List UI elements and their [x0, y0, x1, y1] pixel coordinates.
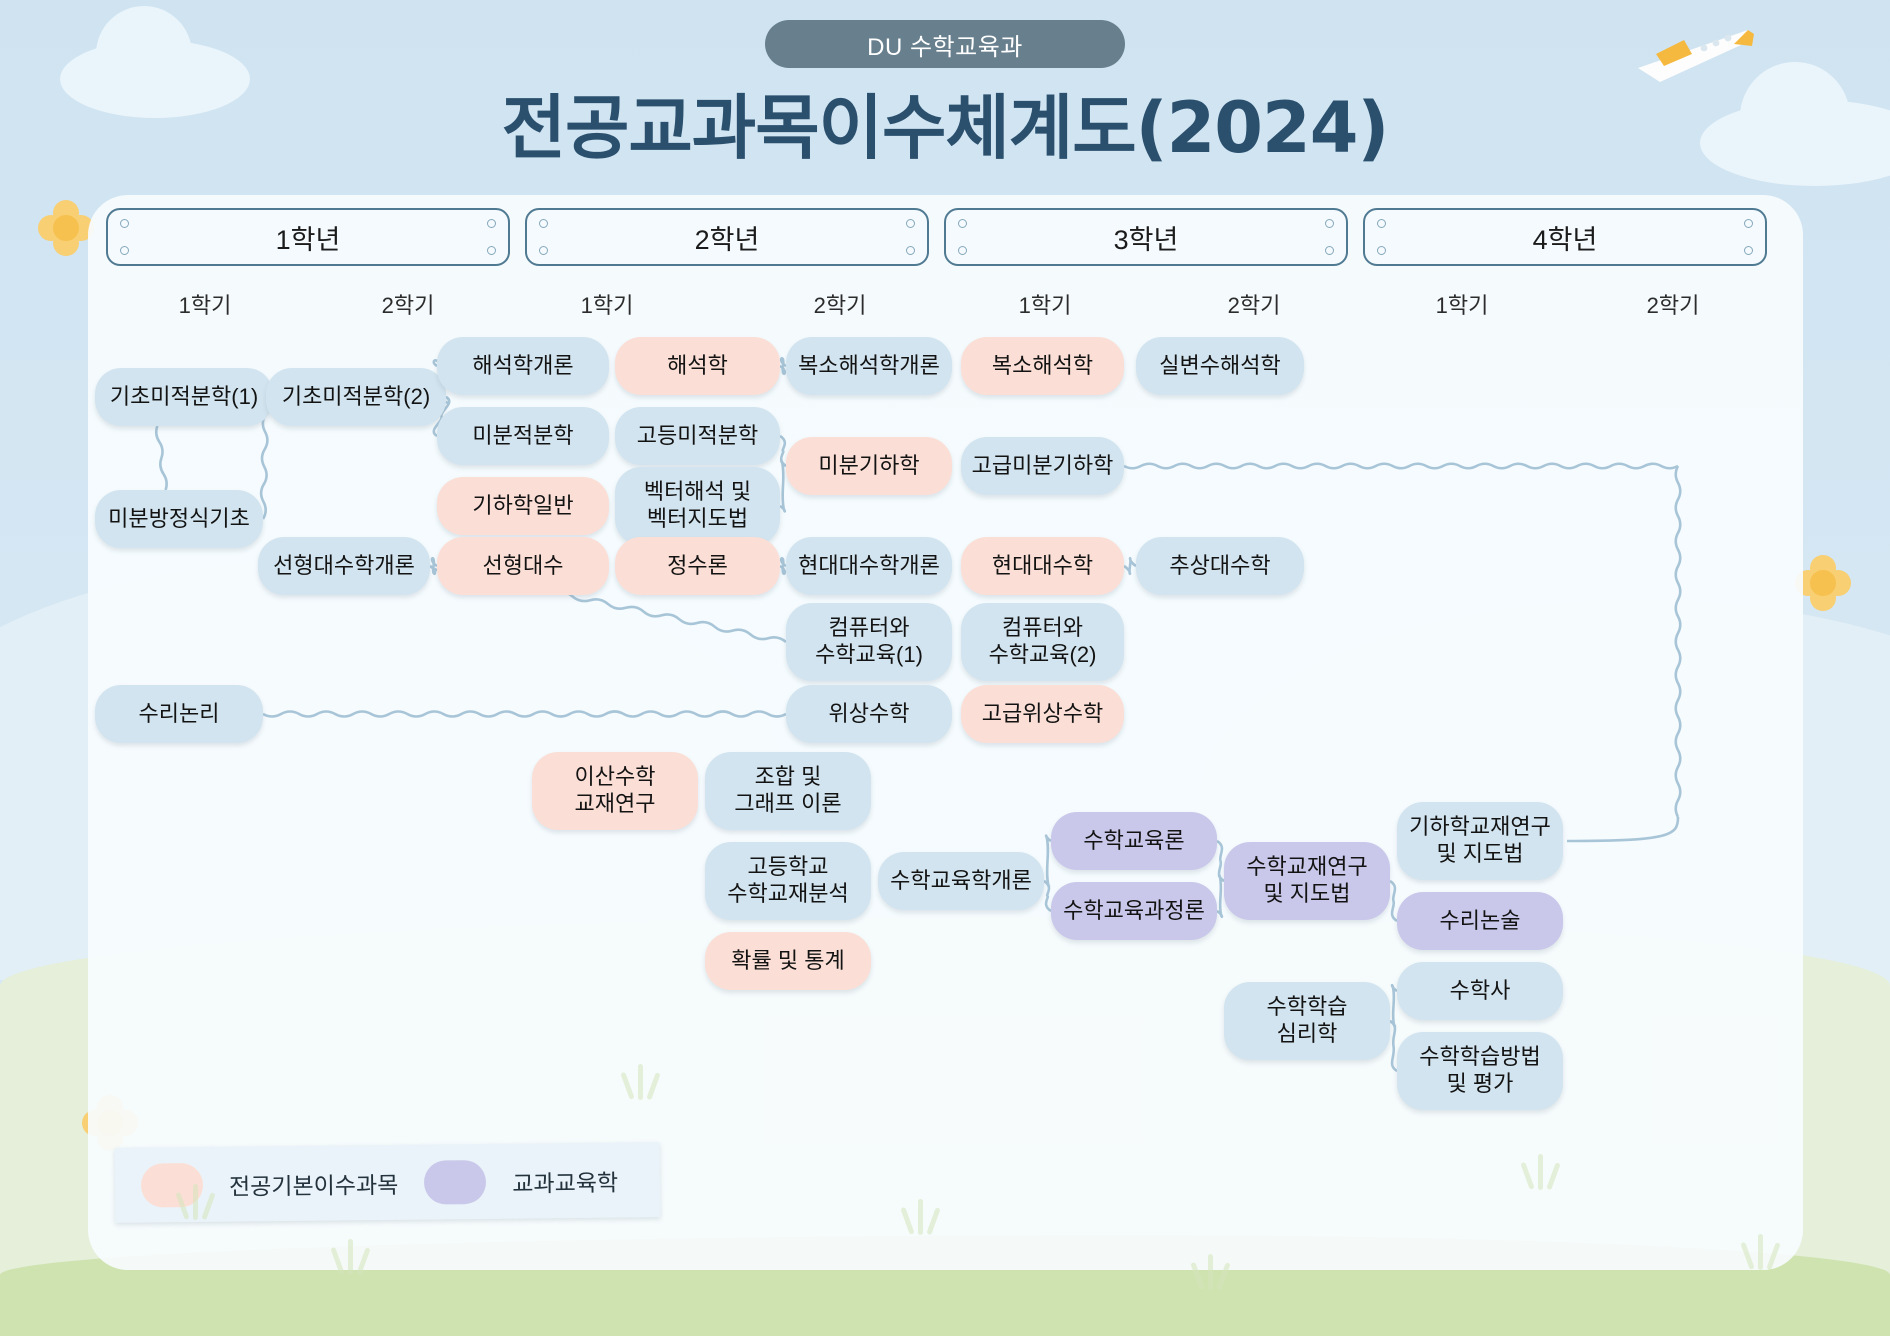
- course-node-label: 기하학교재연구 및 지도법: [1409, 814, 1551, 868]
- semester-label-3-2: 2학기: [1194, 288, 1314, 320]
- course-node[interactable]: 기하학교재연구 및 지도법: [1397, 802, 1563, 880]
- department-badge: DU 수학교육과: [765, 20, 1125, 68]
- semester-label-4-1: 1학기: [1402, 288, 1522, 320]
- course-node[interactable]: 추상대수학: [1136, 537, 1304, 595]
- semester-label-4-2: 2학기: [1613, 288, 1733, 320]
- course-node[interactable]: 고급위상수학: [961, 685, 1124, 743]
- course-node-label: 위상수학: [829, 701, 910, 728]
- course-node-label: 이산수학 교재연구: [575, 764, 656, 818]
- course-node-label: 고등학교 수학교재분석: [727, 854, 848, 908]
- course-node-label: 복소해석학개론: [798, 353, 940, 380]
- course-node-label: 미분적분학: [472, 423, 573, 450]
- course-node[interactable]: 해석학개론: [437, 337, 609, 395]
- course-node-label: 고급미분기하학: [972, 453, 1114, 480]
- course-node[interactable]: 컴퓨터와 수학교육(2): [961, 603, 1124, 681]
- grass-sprig-icon: [1520, 1150, 1560, 1194]
- course-node[interactable]: 선형대수: [437, 537, 609, 595]
- course-node-label: 고급위상수학: [982, 701, 1103, 728]
- course-node[interactable]: 위상수학: [786, 685, 952, 743]
- course-node-label: 고등미적분학: [637, 423, 758, 450]
- year-header-label: 2학년: [695, 218, 760, 257]
- legend-label-major-basic: 전공기본이수과목: [229, 1165, 399, 1201]
- grass-sprig-icon: [175, 1180, 215, 1224]
- course-node-label: 수리논리: [139, 701, 220, 728]
- semester-label-3-1: 1학기: [985, 288, 1105, 320]
- year-header-label: 1학년: [276, 218, 341, 257]
- course-node[interactable]: 미분기하학: [786, 437, 952, 495]
- legend-label-subject-education: 교과교육학: [512, 1163, 618, 1198]
- course-node[interactable]: 조합 및 그래프 이론: [705, 752, 871, 830]
- course-node[interactable]: 수리논리: [95, 685, 263, 743]
- course-node-label: 선형대수: [483, 553, 564, 580]
- semester-label-1-2: 2학기: [348, 288, 468, 320]
- course-node-label: 수리논술: [1440, 908, 1521, 935]
- year-header-2: 2학년: [525, 208, 929, 266]
- course-node[interactable]: 벡터해석 및 벡터지도법: [615, 467, 780, 545]
- course-node-label: 실변수해석학: [1159, 353, 1280, 380]
- semester-label-2-1: 1학기: [547, 288, 667, 320]
- course-node[interactable]: 수학사: [1397, 962, 1563, 1020]
- course-node[interactable]: 기하학일반: [437, 477, 609, 535]
- course-node[interactable]: 복소해석학개론: [786, 337, 952, 395]
- course-node-label: 해석학: [667, 353, 728, 380]
- course-node-label: 미분기하학: [818, 453, 919, 480]
- course-node[interactable]: 현대대수학개론: [786, 537, 952, 595]
- legend-swatch-subject-education: [424, 1159, 486, 1204]
- course-node[interactable]: 기초미적분학(2): [266, 368, 446, 426]
- course-node-label: 확률 및 통계: [731, 948, 844, 975]
- course-node-label: 해석학개론: [472, 353, 573, 380]
- course-node[interactable]: 확률 및 통계: [705, 932, 871, 990]
- grass-sprig-icon: [900, 1195, 940, 1239]
- course-node-label: 선형대수학개론: [273, 553, 415, 580]
- course-node-label: 추상대수학: [1169, 553, 1270, 580]
- semester-label-2-2: 2학기: [780, 288, 900, 320]
- course-node-label: 현대대수학개론: [798, 553, 940, 580]
- course-node[interactable]: 선형대수학개론: [258, 537, 430, 595]
- year-header-1: 1학년: [106, 208, 510, 266]
- course-node[interactable]: 현대대수학: [961, 537, 1124, 595]
- course-node[interactable]: 수리논술: [1397, 892, 1563, 950]
- course-node[interactable]: 수학교육과정론: [1051, 882, 1217, 940]
- course-node-label: 수학교육론: [1083, 828, 1184, 855]
- semester-label-1-1: 1학기: [145, 288, 265, 320]
- course-node[interactable]: 이산수학 교재연구: [532, 752, 698, 830]
- course-node-label: 컴퓨터와 수학교육(1): [815, 615, 923, 669]
- grass-sprig-icon: [620, 1060, 660, 1104]
- course-node[interactable]: 기초미적분학(1): [95, 368, 273, 426]
- course-node[interactable]: 복소해석학: [961, 337, 1124, 395]
- grass-sprig-icon: [1740, 1230, 1780, 1274]
- course-node-label: 복소해석학: [992, 353, 1093, 380]
- course-node-label: 기하학일반: [472, 493, 573, 520]
- course-node[interactable]: 수학교육학개론: [878, 852, 1044, 910]
- course-node-label: 수학교육과정론: [1063, 898, 1205, 925]
- course-node-label: 기초미적분학(2): [282, 384, 430, 411]
- course-node-label: 벡터해석 및 벡터지도법: [644, 479, 751, 533]
- course-node-label: 조합 및 그래프 이론: [734, 764, 841, 818]
- flower-icon-left: [38, 200, 94, 256]
- course-node[interactable]: 수학교육론: [1051, 812, 1217, 870]
- course-node-label: 수학교재연구 및 지도법: [1246, 854, 1367, 908]
- grass-sprig-icon: [1190, 1250, 1230, 1294]
- course-node-label: 정수론: [667, 553, 728, 580]
- year-header-label: 3학년: [1114, 218, 1179, 257]
- year-header-3: 3학년: [944, 208, 1348, 266]
- course-node-label: 미분방정식기초: [108, 506, 250, 533]
- flower-icon-right: [1795, 555, 1851, 611]
- course-node[interactable]: 실변수해석학: [1136, 337, 1304, 395]
- page-title: 전공교과목이수체계도(2024): [0, 72, 1890, 173]
- grass-sprig-icon: [330, 1235, 370, 1279]
- course-node[interactable]: 해석학: [615, 337, 780, 395]
- course-node-label: 수학교육학개론: [890, 868, 1032, 895]
- course-node[interactable]: 미분적분학: [437, 407, 609, 465]
- course-node[interactable]: 수학학습방법 및 평가: [1397, 1032, 1563, 1110]
- course-node[interactable]: 정수론: [615, 537, 780, 595]
- course-node-label: 수학학습 심리학: [1267, 994, 1348, 1048]
- course-node-label: 기초미적분학(1): [110, 384, 258, 411]
- course-node[interactable]: 고급미분기하학: [961, 437, 1124, 495]
- year-header-4: 4학년: [1363, 208, 1767, 266]
- course-node[interactable]: 컴퓨터와 수학교육(1): [786, 603, 952, 681]
- course-node[interactable]: 고등학교 수학교재분석: [705, 842, 871, 920]
- course-node-label: 현대대수학: [992, 553, 1093, 580]
- course-node[interactable]: 수학교재연구 및 지도법: [1224, 842, 1390, 920]
- course-node-label: 컴퓨터와 수학교육(2): [989, 615, 1097, 669]
- course-node-label: 수학학습방법 및 평가: [1419, 1044, 1540, 1098]
- course-node-label: 수학사: [1450, 978, 1511, 1005]
- course-node[interactable]: 고등미적분학: [615, 407, 780, 465]
- course-node[interactable]: 미분방정식기초: [95, 490, 263, 548]
- course-node[interactable]: 수학학습 심리학: [1224, 982, 1390, 1060]
- year-header-label: 4학년: [1533, 218, 1598, 257]
